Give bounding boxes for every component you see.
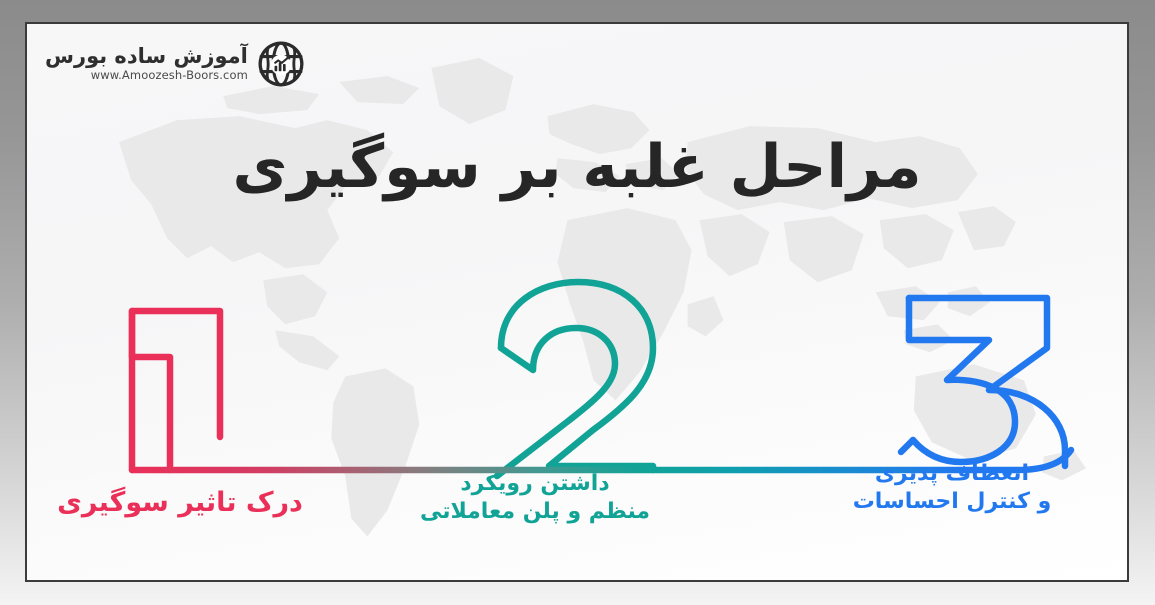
globe-chart-icon bbox=[257, 40, 305, 88]
brand-logo: آموزش ساده بورس www.Amoozesh-Boors.com bbox=[45, 40, 305, 88]
steps-diagram bbox=[27, 252, 1126, 482]
page-title: مراحل غلبه بر سوگیری bbox=[27, 132, 1127, 202]
infographic-inner-panel: آموزش ساده بورس www.Amoozesh-Boors.com م… bbox=[27, 24, 1127, 580]
infographic-canvas: آموزش ساده بورس www.Amoozesh-Boors.com م… bbox=[0, 0, 1155, 605]
step-3-caption: انعطاف پذیری و کنترل احساسات bbox=[817, 460, 1087, 516]
step-1-caption: درک تاثیر سوگیری bbox=[35, 486, 325, 521]
logo-title: آموزش ساده بورس bbox=[45, 46, 248, 67]
logo-url: www.Amoozesh-Boors.com bbox=[45, 70, 248, 82]
step-2-caption: داشتن رویکرد منظم و پلن معاملاتی bbox=[385, 470, 685, 526]
